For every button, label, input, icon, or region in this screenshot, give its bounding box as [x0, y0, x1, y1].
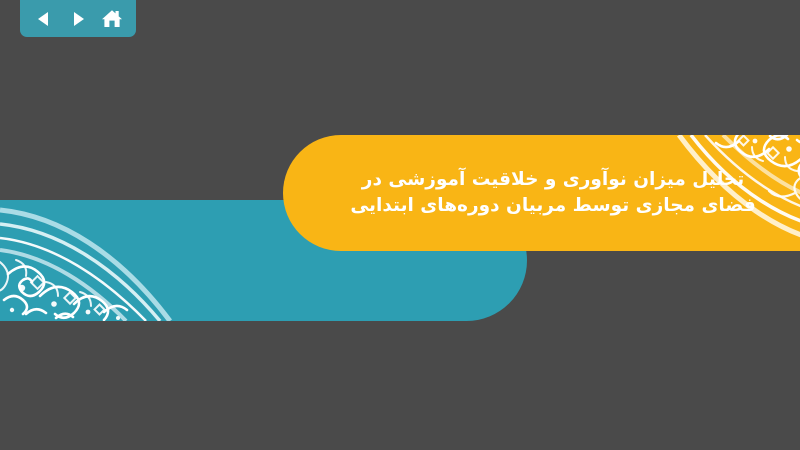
slide-title: تحلیل میزان نوآوری و خلاقیت آموزشی در فض…	[310, 167, 800, 220]
title-line-2: فضای مجازی توسط مربیان دوره‌های ابتدایی	[350, 193, 755, 219]
triangle-left-icon	[35, 10, 53, 28]
home-button[interactable]	[96, 5, 128, 33]
arabesque-ornament-icon	[0, 200, 240, 321]
home-icon	[101, 9, 123, 29]
slide-canvas: تحلیل میزان نوآوری و خلاقیت آموزشی در فض…	[0, 0, 800, 450]
navigation-bar	[20, 0, 136, 37]
back-button[interactable]	[28, 5, 60, 33]
forward-button[interactable]	[62, 5, 94, 33]
title-line-1: تحلیل میزان نوآوری و خلاقیت آموزشی در	[350, 167, 755, 193]
triangle-right-icon	[69, 10, 87, 28]
title-banner: تحلیل میزان نوآوری و خلاقیت آموزشی در فض…	[283, 135, 800, 251]
